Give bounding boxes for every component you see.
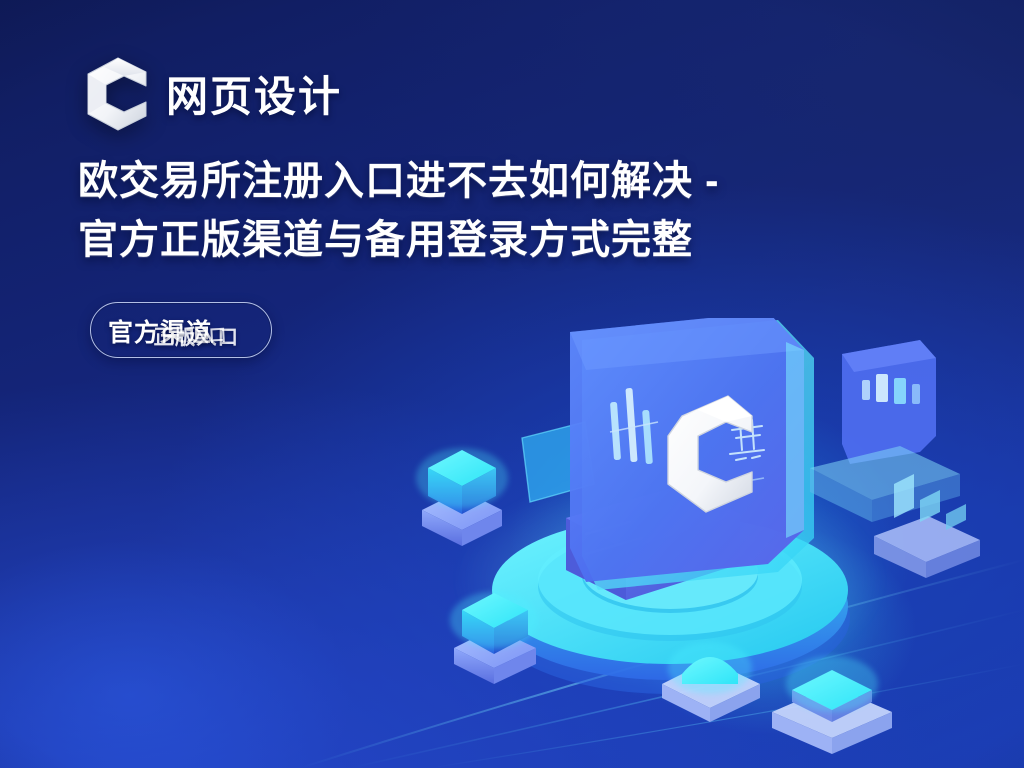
vignette-overlay	[0, 0, 1024, 768]
banner-stage: 网页设计 欧交易所注册入口进不去如何解决 - 官方正版渠道与备用登录方式完整 官…	[0, 0, 1024, 768]
